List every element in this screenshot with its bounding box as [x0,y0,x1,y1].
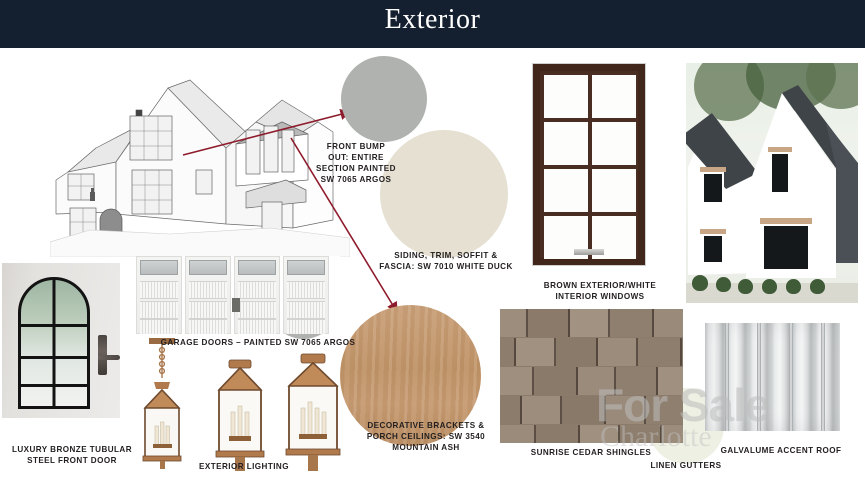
post-lantern [205,358,275,478]
caption-exterior-lighting: EXTERIOR LIGHTING [176,461,312,472]
white-house-photo [686,63,858,303]
caption-brackets: DECORATIVE BRACKETS & PORCH CEILINGS: SW… [352,420,500,453]
door-mullion-h3 [21,384,87,387]
door-frame [18,277,90,409]
header-bar: Exterior [0,0,865,48]
caption-windows: BROWN EXTERIOR/WHITE INTERIOR WINDOWS [512,280,688,302]
caption-front-door: LUXURY BRONZE TUBULAR STEEL FRONT DOOR [2,444,142,466]
door-lever [98,355,120,360]
caption-front-bump: FRONT BUMP OUT: ENTIRE SECTION PAINTED S… [302,141,410,185]
caption-garage-doors: GARAGE DOORS – PAINTED SW 7065 ARGOS [152,337,364,348]
wall-lantern [277,352,349,477]
door-mullion-vertical [53,280,56,406]
caption-metal-roof: GALVALUME ACCENT ROOF [706,445,856,456]
garage-doors-photo [136,256,340,334]
door-mullion-h2 [21,356,87,359]
swatch-argos-upper [341,56,427,142]
page-title: Exterior [0,4,865,36]
brown-window-photo [533,64,645,265]
caption-siding: SIDING, TRIM, SOFFIT & FASCIA: SW 7010 W… [358,250,534,272]
window-latch [574,249,604,255]
mood-board: Exterior [0,0,865,479]
caption-gutters: LINEN GUTTERS [638,460,734,471]
door-mullion-h1 [21,324,87,327]
front-door-photo [2,263,120,418]
caption-shingles: SUNRISE CEDAR SHINGLES [496,447,686,458]
